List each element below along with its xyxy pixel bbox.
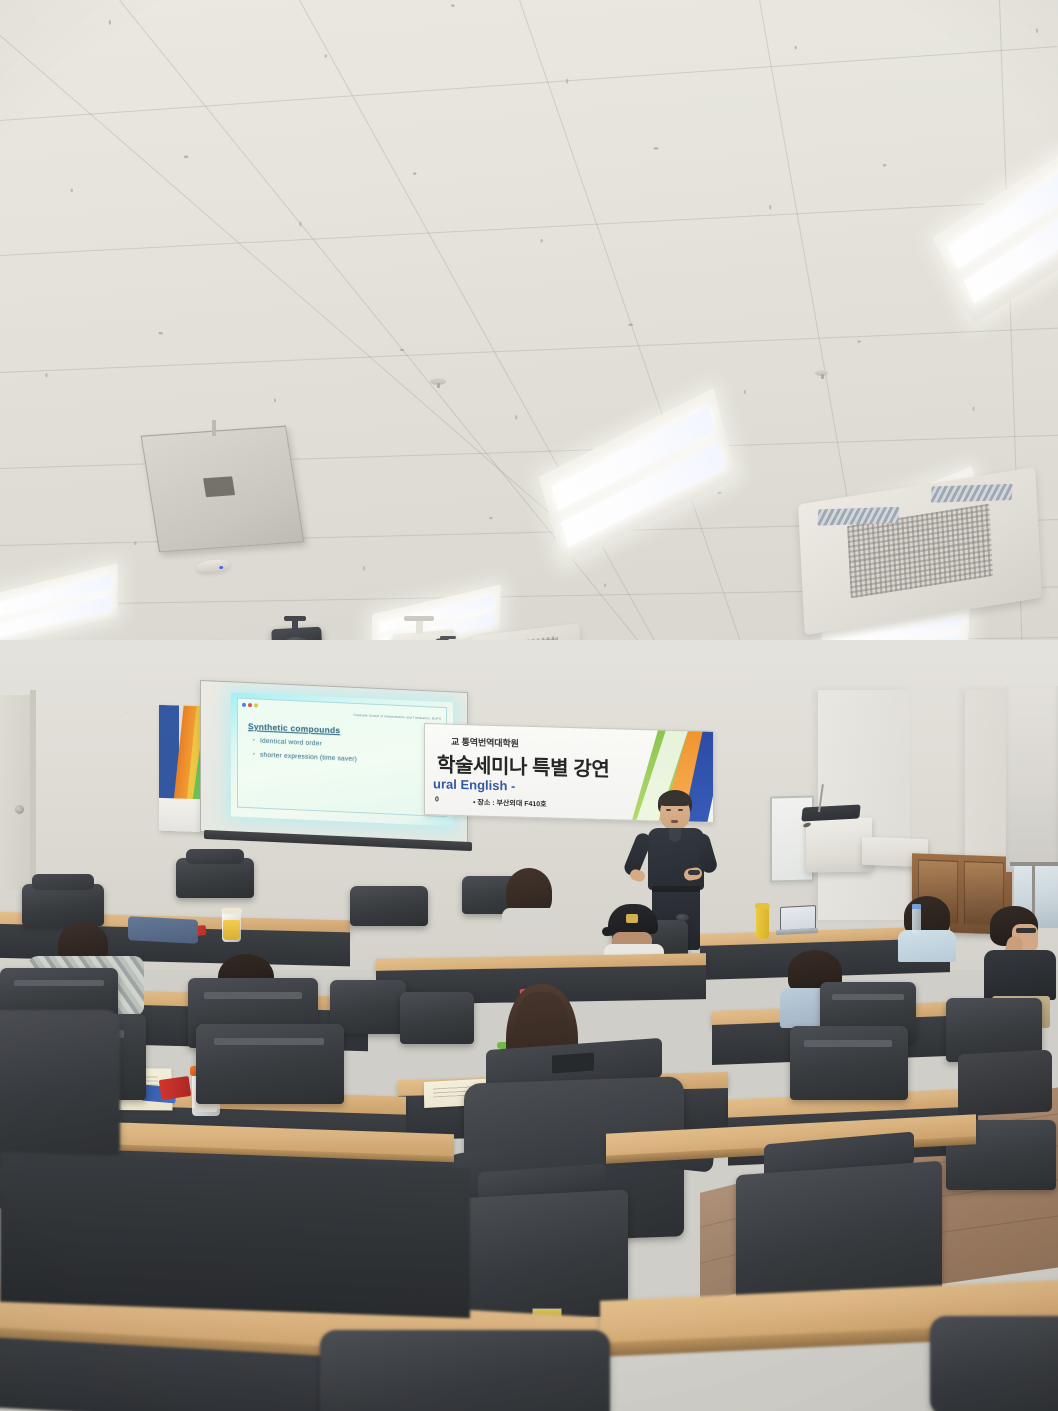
projector-cable-arm — [440, 636, 456, 639]
door-frame — [30, 690, 36, 895]
student-top — [898, 930, 956, 962]
presenter-hair-top — [659, 792, 691, 806]
slide-dot-yellow — [254, 703, 258, 707]
slide-header-text: Graduate School of Interpretation and Tr… — [353, 713, 441, 721]
speaker-mount-stem — [212, 420, 216, 436]
banner-location-line: • 장소 : 부산외대 F410호 — [473, 797, 547, 809]
water-bottle[interactable] — [912, 908, 921, 934]
cup-contents — [223, 920, 240, 940]
tumbler-yellow[interactable] — [756, 907, 769, 939]
classroom-door[interactable] — [0, 695, 34, 890]
tumbler-lid — [755, 903, 770, 909]
chair-backrest — [22, 884, 104, 926]
denim-jacket[interactable] — [128, 916, 198, 944]
bottle-cap — [912, 904, 921, 909]
speaker-bracket — [284, 616, 306, 621]
snack-wrapper-red-3[interactable] — [159, 1076, 191, 1100]
chair-backrest — [0, 1010, 120, 1160]
ac-vent-louver — [931, 483, 1013, 502]
presenter-mouth — [671, 820, 678, 823]
presenter-clicker — [688, 870, 700, 875]
slide-window-dots — [242, 703, 258, 708]
slide-bullet-2: shorter expression (time saver) — [260, 752, 357, 763]
chair-backrest — [320, 1330, 610, 1411]
chair-backrest — [196, 1024, 344, 1104]
banner-subtitle-line: ural English - — [433, 776, 515, 793]
glasses-icon — [1016, 928, 1036, 933]
detector-led — [219, 566, 223, 569]
chair-backrest-slot — [832, 994, 904, 1000]
chair-backrest — [400, 992, 474, 1044]
chair-backrest-slot — [14, 980, 104, 986]
projected-slide-glow: Graduate School of Interpretation and Tr… — [231, 692, 453, 826]
presenter-eye-left — [666, 809, 671, 811]
presenter-collar — [669, 828, 681, 842]
desk-underside-shadow — [0, 1152, 470, 1318]
cup-lid — [221, 908, 242, 915]
presenter-eye-right — [678, 809, 683, 811]
chair-row1-b[interactable] — [176, 858, 254, 916]
chair-headrest — [32, 874, 94, 890]
laptop-open[interactable] — [780, 905, 816, 931]
slide-bullet-1: Identical word order — [260, 738, 322, 748]
chair-headrest — [186, 849, 244, 864]
student-mid-left — [500, 868, 562, 928]
student-right-blue — [898, 896, 960, 962]
slide-title: Synthetic compounds — [248, 721, 340, 735]
wireless-mouse[interactable] — [676, 914, 689, 921]
chair-backrest — [350, 886, 428, 926]
projector-mount — [416, 620, 423, 634]
chair-backrest — [790, 1026, 908, 1100]
ceiling — [0, 0, 1058, 700]
fire-sprinkler-head — [815, 370, 828, 376]
chair-backrest-slot — [804, 1040, 892, 1047]
projected-slide: Graduate School of Interpretation and Tr… — [237, 698, 447, 818]
student-top — [502, 908, 558, 930]
chair-foreground-center[interactable] — [320, 1330, 610, 1411]
lecture-hall-photo: Graduate School of Interpretation and Tr… — [0, 0, 1058, 1411]
door-handle-icon[interactable] — [15, 805, 24, 814]
slide-dot-red — [248, 703, 252, 707]
presenter-belt — [652, 886, 700, 892]
fire-sprinkler-head — [430, 378, 446, 385]
student-top — [984, 950, 1056, 1000]
chair-row3-right-a[interactable] — [790, 1026, 910, 1130]
speaker-grille — [203, 477, 235, 497]
chair-backrest — [176, 858, 254, 898]
banner-org-line: 교 통역번역대학원 — [451, 735, 519, 750]
chair-backrest-slot — [204, 992, 302, 999]
presenter-left-hand — [629, 868, 647, 883]
cap-logo-icon — [626, 914, 638, 923]
window-roller-blind[interactable] — [1006, 686, 1058, 872]
chair-foreground-right[interactable] — [930, 1316, 1058, 1411]
chair-backrest-slot — [214, 1038, 324, 1045]
ceiling-speaker-panel — [141, 426, 305, 553]
chair-row3-left-b[interactable] — [196, 1024, 346, 1136]
backpack-black[interactable] — [958, 1050, 1052, 1117]
projector-mount-plate — [404, 616, 434, 621]
slide-dot-blue — [242, 703, 246, 707]
chair-headrest-slot — [552, 1053, 594, 1074]
drink-cup-yellow[interactable] — [222, 912, 241, 942]
banner-time-line: 0 — [435, 796, 439, 803]
chair-backrest — [930, 1316, 1058, 1411]
chair-row1-c[interactable] — [350, 886, 428, 942]
chair-backrest — [736, 1161, 942, 1305]
ac-vent-louver — [818, 507, 900, 526]
